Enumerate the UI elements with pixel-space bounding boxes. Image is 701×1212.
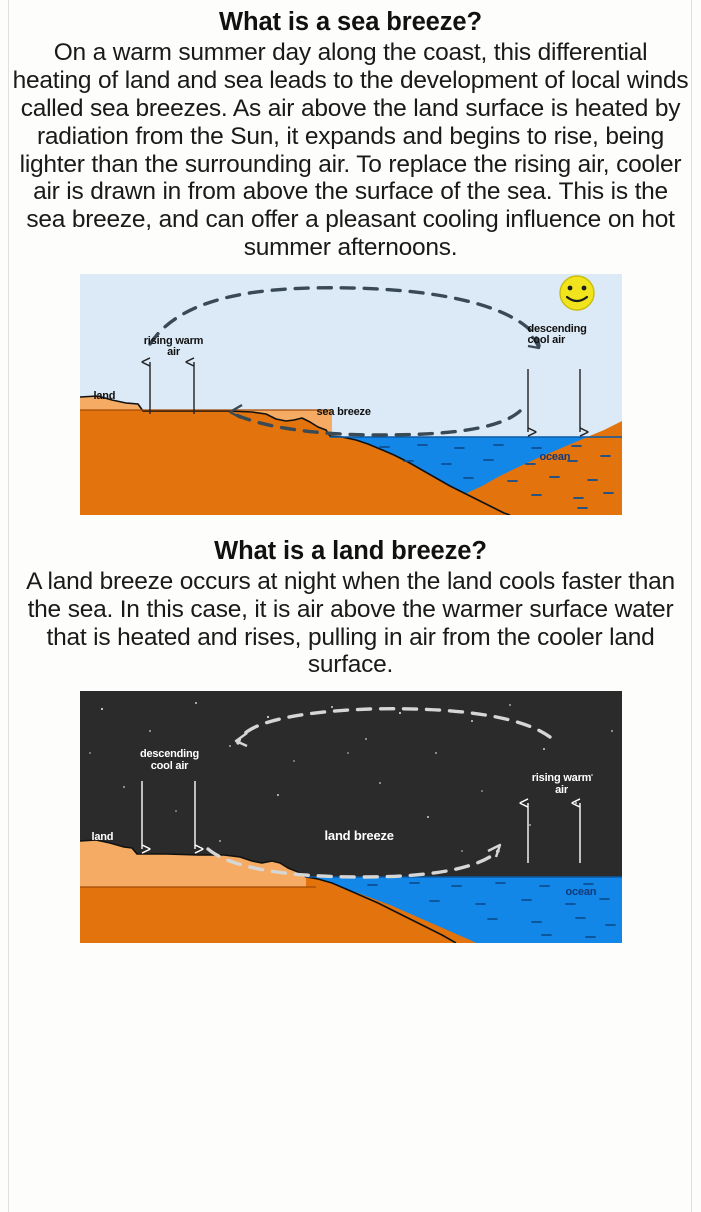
day-label-sea-breeze: sea breeze [317, 407, 371, 419]
day-label-descending-cool-air: descending cool air [528, 324, 622, 347]
land-breeze-diagram: land descending cool air rising warm air… [80, 691, 622, 943]
night-label-descending-cool-air: descending cool air [120, 749, 220, 772]
day-label-ocean: ocean [540, 452, 571, 464]
page-right-rule [691, 0, 692, 1212]
day-descending-line2: cool air [528, 334, 566, 346]
night-rising-line1: rising warm [532, 772, 592, 784]
night-descending-line1: descending [140, 748, 199, 760]
night-descending-line2: cool air [151, 760, 189, 772]
night-label-land: land [92, 832, 114, 844]
section-spacer [10, 515, 691, 529]
day-rising-line1: rising warm [144, 335, 204, 347]
day-rising-line2: air [167, 346, 180, 358]
sea-breeze-heading: What is a sea breeze? [10, 0, 691, 39]
day-label-land: land [94, 391, 116, 403]
night-rising-line2: air [555, 784, 568, 796]
document-page: What is a sea breeze? On a warm summer d… [0, 0, 701, 1212]
night-label-rising-warm-air: rising warm air [512, 773, 612, 796]
day-label-rising-warm-air: rising warm air [122, 336, 226, 359]
land-breeze-heading: What is a land breeze? [10, 529, 691, 568]
night-label-land-breeze: land breeze [325, 829, 394, 843]
sea-breeze-diagram: land rising warm air descending cool air… [80, 274, 622, 515]
land-breeze-paragraph: A land breeze occurs at night when the l… [10, 568, 691, 679]
sun-smiley-icon [560, 276, 594, 310]
sea-breeze-paragraph: On a warm summer day along the coast, th… [10, 39, 691, 261]
page-left-rule [8, 0, 9, 1212]
night-label-ocean: ocean [566, 887, 597, 899]
day-descending-line1: descending [528, 323, 587, 335]
document-content: What is a sea breeze? On a warm summer d… [10, 0, 691, 943]
